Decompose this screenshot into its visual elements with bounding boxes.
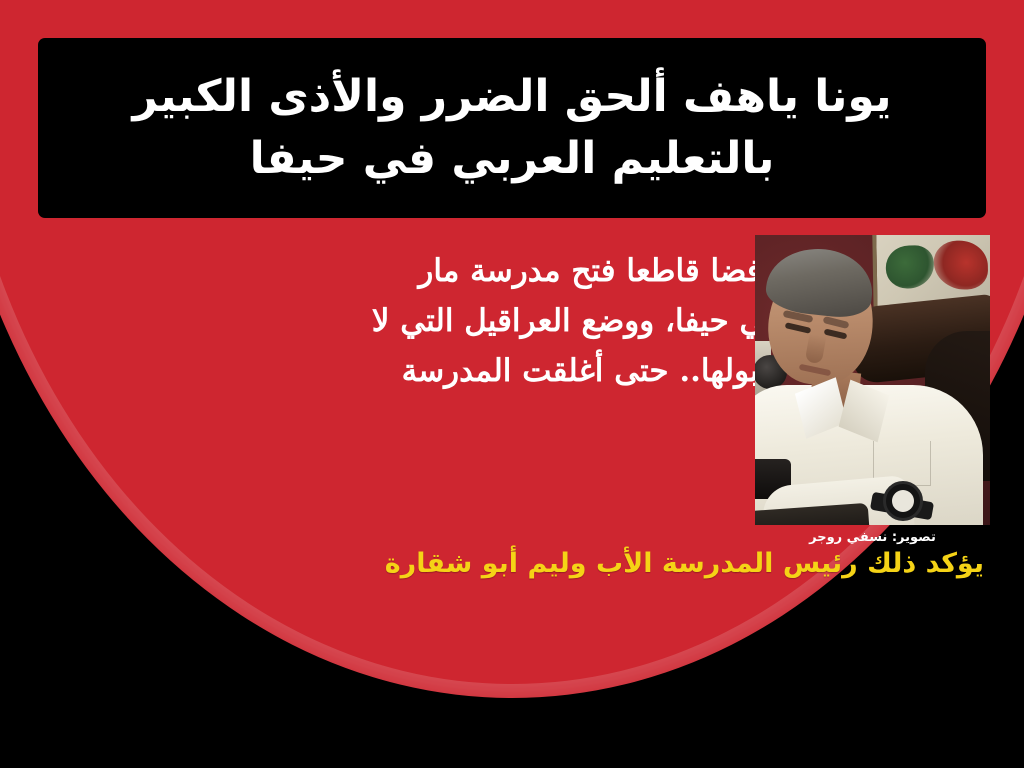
headline-line-2: بالتعليم العربي في حيفا <box>250 128 775 190</box>
news-poster: يونا ياهف ألحق الضرر والأذى الكبير بالتع… <box>0 0 1024 768</box>
emphasis-attribution-line: يؤكد ذلك رئيس المدرسة الأب وليم أبو شقار… <box>264 548 984 579</box>
subject-photo <box>755 235 990 525</box>
photo-credit-caption: تصوير: نسفي روجر <box>755 530 990 545</box>
photo-wristwatch <box>883 481 923 521</box>
headline-line-1: يونا ياهف ألحق الضرر والأذى الكبير <box>133 66 892 128</box>
headline-plate: يونا ياهف ألحق الضرر والأذى الكبير بالتع… <box>38 38 986 218</box>
